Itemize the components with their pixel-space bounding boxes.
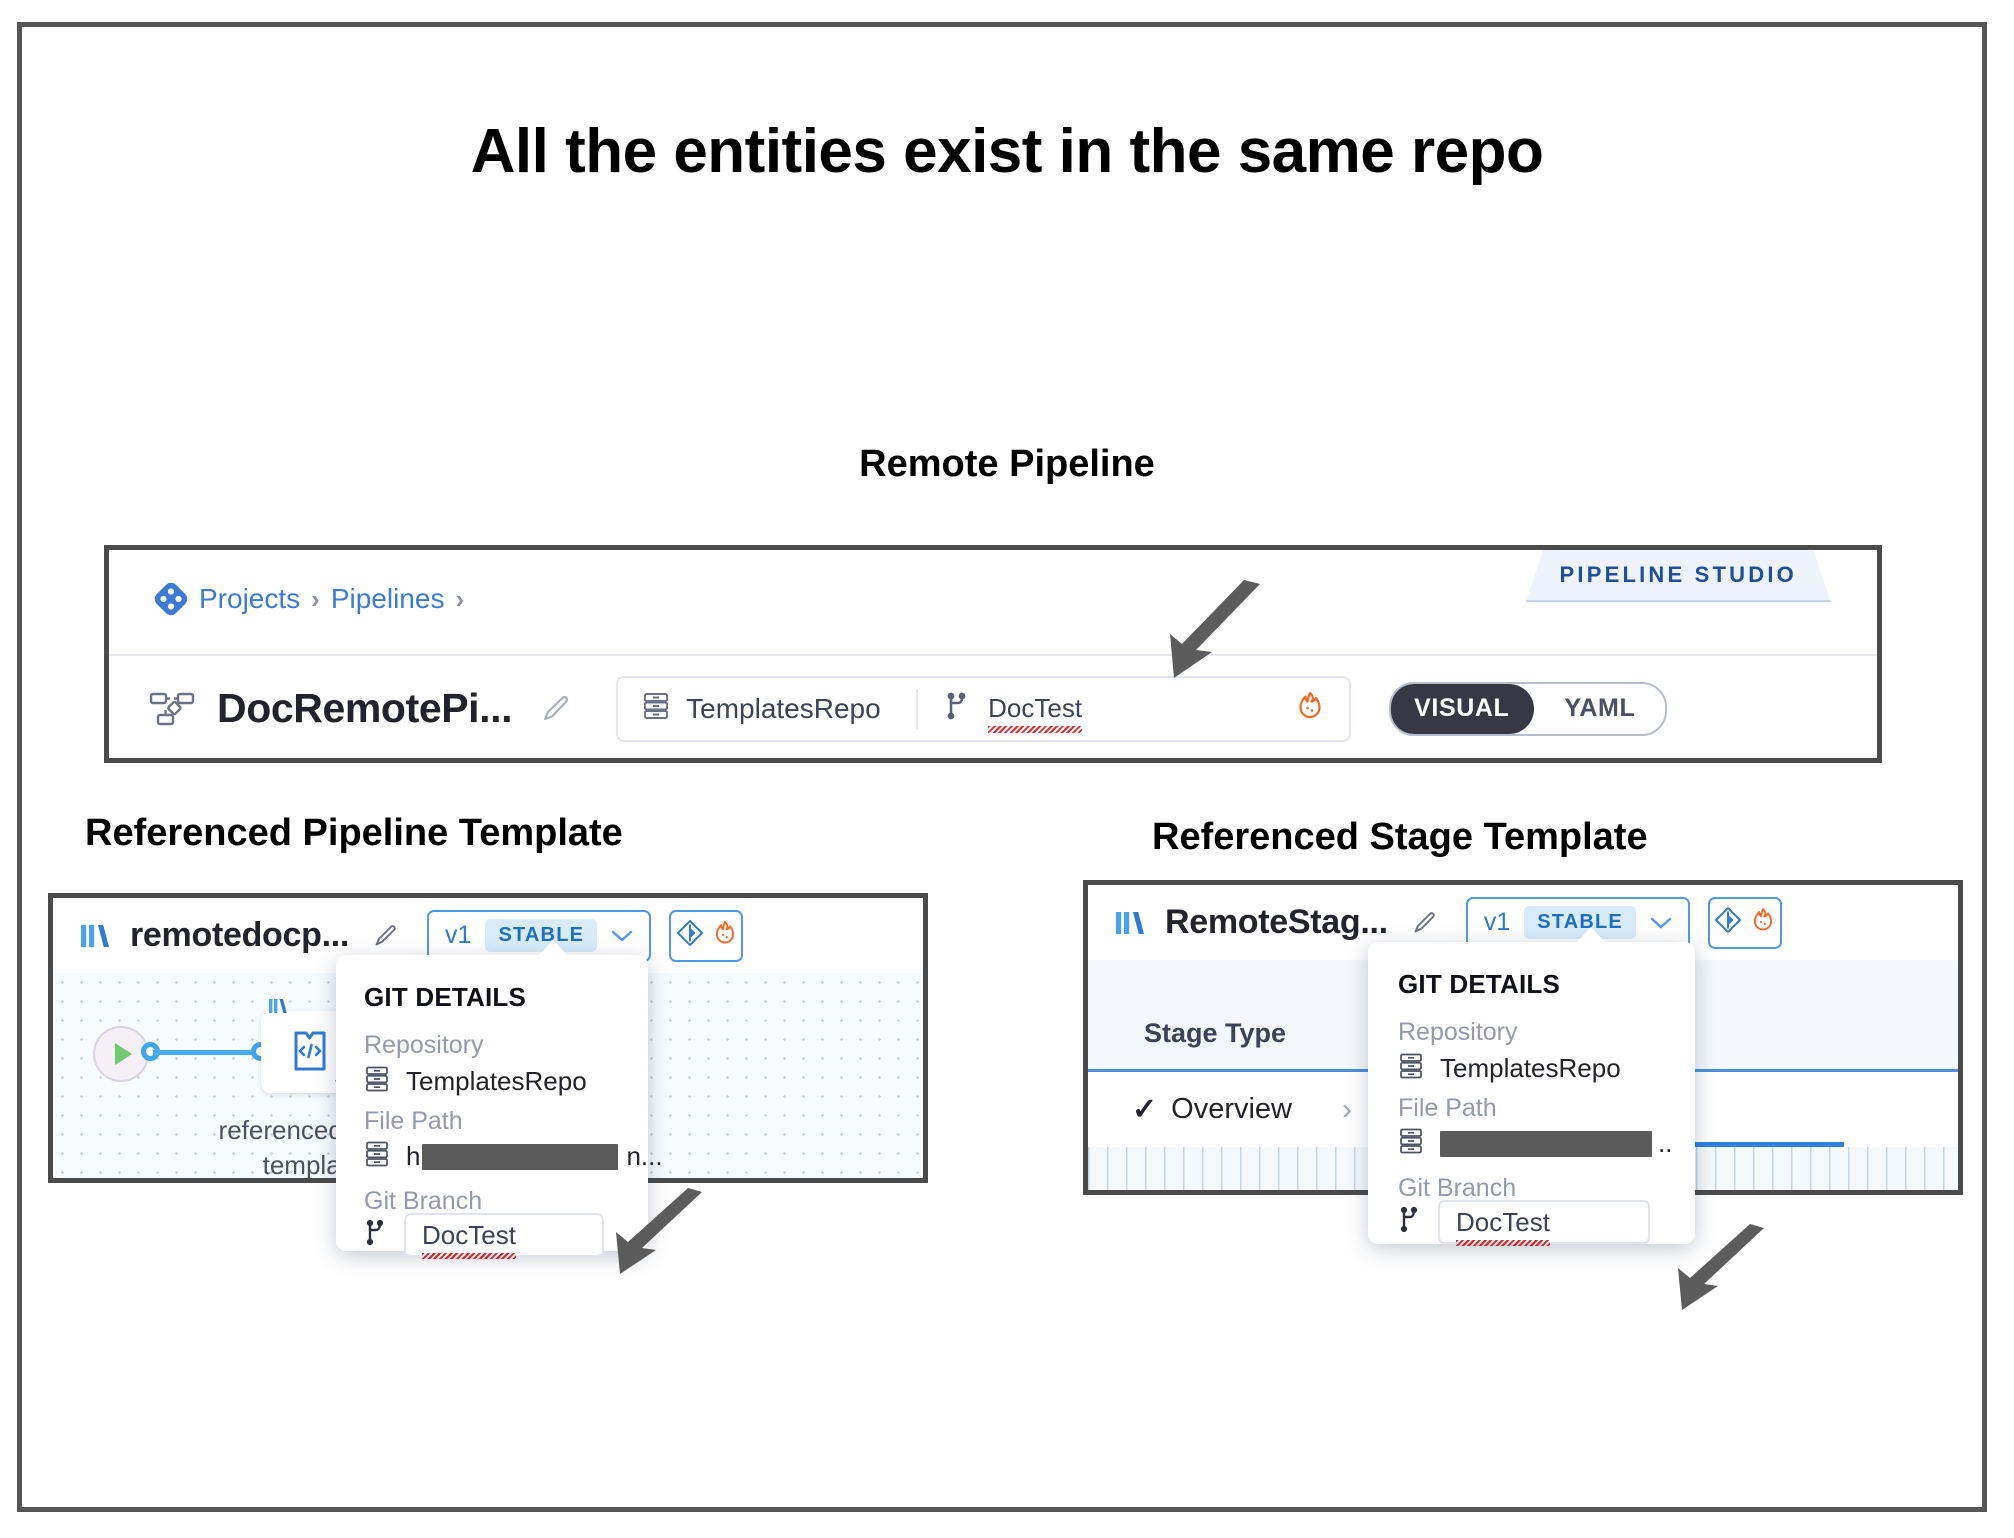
git-details-button[interactable] (669, 910, 743, 962)
git-details-popover: GIT DETAILS Repository TemplatesRepo F (1368, 942, 1695, 1244)
breadcrumb: Projects › Pipelines › (154, 582, 464, 616)
git-branch-icon (1398, 1205, 1422, 1240)
repository-icon (1398, 1127, 1424, 1160)
template-bars-icon (267, 995, 289, 1017)
repository-row: TemplatesRepo (364, 1065, 587, 1098)
spellcheck-underline (422, 1253, 516, 1259)
repository-icon (1398, 1052, 1424, 1085)
referenced-stage-template-screenshot: RemoteStag... v1 STABLE (1083, 880, 1963, 1195)
tab-overview[interactable]: ✓ Overview (1132, 1072, 1292, 1147)
file-path-redaction (422, 1144, 618, 1170)
git-branch-icon (944, 690, 970, 727)
repository-value: TemplatesRepo (406, 1066, 587, 1097)
branch-cell[interactable]: DocTest (922, 690, 1349, 727)
page-title: All the entities exist in the same repo (0, 116, 2014, 187)
git-branch-label: Git Branch (364, 1187, 482, 1216)
git-branch-label: Git Branch (1398, 1174, 1516, 1203)
template-name: RemoteStag... (1165, 903, 1388, 942)
pipeline-studio-badge: PIPELINE STUDIO (1526, 550, 1831, 602)
pipeline-header-bottom: DocRemotePi... (109, 656, 1877, 761)
git-branch-value: DocTest (422, 1220, 516, 1251)
remote-pipeline-screenshot: Projects › Pipelines › PIPELINE STUDIO (104, 545, 1882, 763)
pencil-icon[interactable] (1410, 909, 1438, 937)
file-path-row: h n... (364, 1140, 663, 1173)
visual-yaml-toggle[interactable]: VISUAL YAML (1389, 682, 1667, 736)
pencil-icon[interactable] (538, 692, 572, 726)
harness-flame-icon (712, 919, 738, 952)
version-stable-badge: STABLE (485, 919, 597, 952)
tab-overview-label: Overview (1171, 1093, 1292, 1126)
git-branch-row: DocTest (1398, 1200, 1650, 1244)
file-path-label: File Path (364, 1107, 463, 1136)
branch-name: DocTest (988, 693, 1082, 724)
referenced-pipeline-template-screenshot: remotedocp... v1 STABLE (48, 893, 928, 1183)
repository-name: TemplatesRepo (686, 693, 881, 725)
git-branch-input[interactable]: DocTest (1438, 1200, 1650, 1244)
spellcheck-underline (1456, 1240, 1550, 1246)
repository-label: Repository (364, 1031, 484, 1060)
selector-divider (916, 689, 918, 729)
chevron-down-icon[interactable] (611, 923, 633, 949)
pipeline-header-top: Projects › Pipelines › PIPELINE STUDIO (109, 550, 1877, 656)
pipeline-nodes-icon (149, 691, 195, 727)
check-icon: ✓ (1132, 1092, 1157, 1127)
file-path-suffix: .. (1658, 1128, 1672, 1159)
repository-label: Repository (1398, 1018, 1518, 1047)
repository-cell[interactable]: TemplatesRepo (618, 691, 912, 726)
git-details-button[interactable] (1708, 897, 1782, 949)
file-path-prefix: h (406, 1141, 420, 1172)
git-diamond-icon (675, 918, 705, 953)
template-bars-icon (78, 919, 112, 953)
repository-row: TemplatesRepo (1398, 1052, 1621, 1085)
toggle-option-yaml[interactable]: YAML (1534, 684, 1665, 734)
git-branch-icon (364, 1218, 388, 1253)
template-name: remotedocp... (130, 916, 349, 955)
breadcrumb-separator-2: › (455, 584, 464, 615)
file-path-row: .. (1398, 1127, 1672, 1160)
file-path-suffix: n... (626, 1141, 662, 1172)
section-title-remote-pipeline: Remote Pipeline (0, 443, 2014, 486)
annotation-arrow-pipeline-branch (1108, 578, 1268, 688)
template-bars-icon (1113, 906, 1147, 940)
section-title-referenced-stage-template: Referenced Stage Template (1152, 816, 1648, 859)
repository-icon (364, 1065, 390, 1098)
file-path-redaction (1440, 1131, 1652, 1157)
popover-title: GIT DETAILS (364, 982, 526, 1013)
version-stable-badge: STABLE (1524, 906, 1636, 939)
pipeline-name: DocRemotePi... (217, 685, 512, 732)
harness-flame-icon[interactable] (1295, 690, 1325, 727)
toggle-option-visual[interactable]: VISUAL (1389, 684, 1534, 734)
git-branch-value: DocTest (1456, 1207, 1550, 1238)
chevron-down-icon[interactable] (1650, 910, 1672, 936)
breadcrumb-item-projects[interactable]: Projects (199, 583, 300, 615)
template-version-dropdown[interactable]: v1 STABLE (427, 910, 651, 962)
repository-icon (364, 1140, 390, 1173)
spellcheck-underline (988, 726, 1082, 733)
pencil-icon[interactable] (371, 922, 399, 950)
annotation-arrow-pipeline-template-branch (568, 1186, 708, 1281)
breadcrumb-item-pipelines[interactable]: Pipelines (331, 583, 445, 615)
template-version-dropdown[interactable]: v1 STABLE (1466, 897, 1690, 949)
annotation-arrow-stage-template-branch (1630, 1222, 1770, 1317)
repository-value: TemplatesRepo (1440, 1053, 1621, 1084)
connector-wire-1 (153, 1050, 255, 1055)
version-label: v1 (1484, 908, 1510, 937)
git-diamond-icon (1713, 905, 1743, 940)
popover-title: GIT DETAILS (1398, 969, 1560, 1000)
figure-root: All the entities exist in the same repo … (0, 0, 2014, 1538)
custom-stage-code-icon (283, 1021, 343, 1081)
repository-icon (642, 691, 670, 726)
projects-icon (154, 582, 188, 616)
version-label: v1 (445, 921, 471, 950)
harness-flame-icon (1750, 906, 1776, 939)
breadcrumb-separator-1: › (311, 584, 320, 615)
stage-type-label: Stage Type (1144, 1018, 1286, 1049)
file-path-label: File Path (1398, 1094, 1497, 1123)
chevron-right-icon: › (1342, 1093, 1352, 1127)
section-title-referenced-pipeline-template: Referenced Pipeline Template (85, 812, 623, 855)
